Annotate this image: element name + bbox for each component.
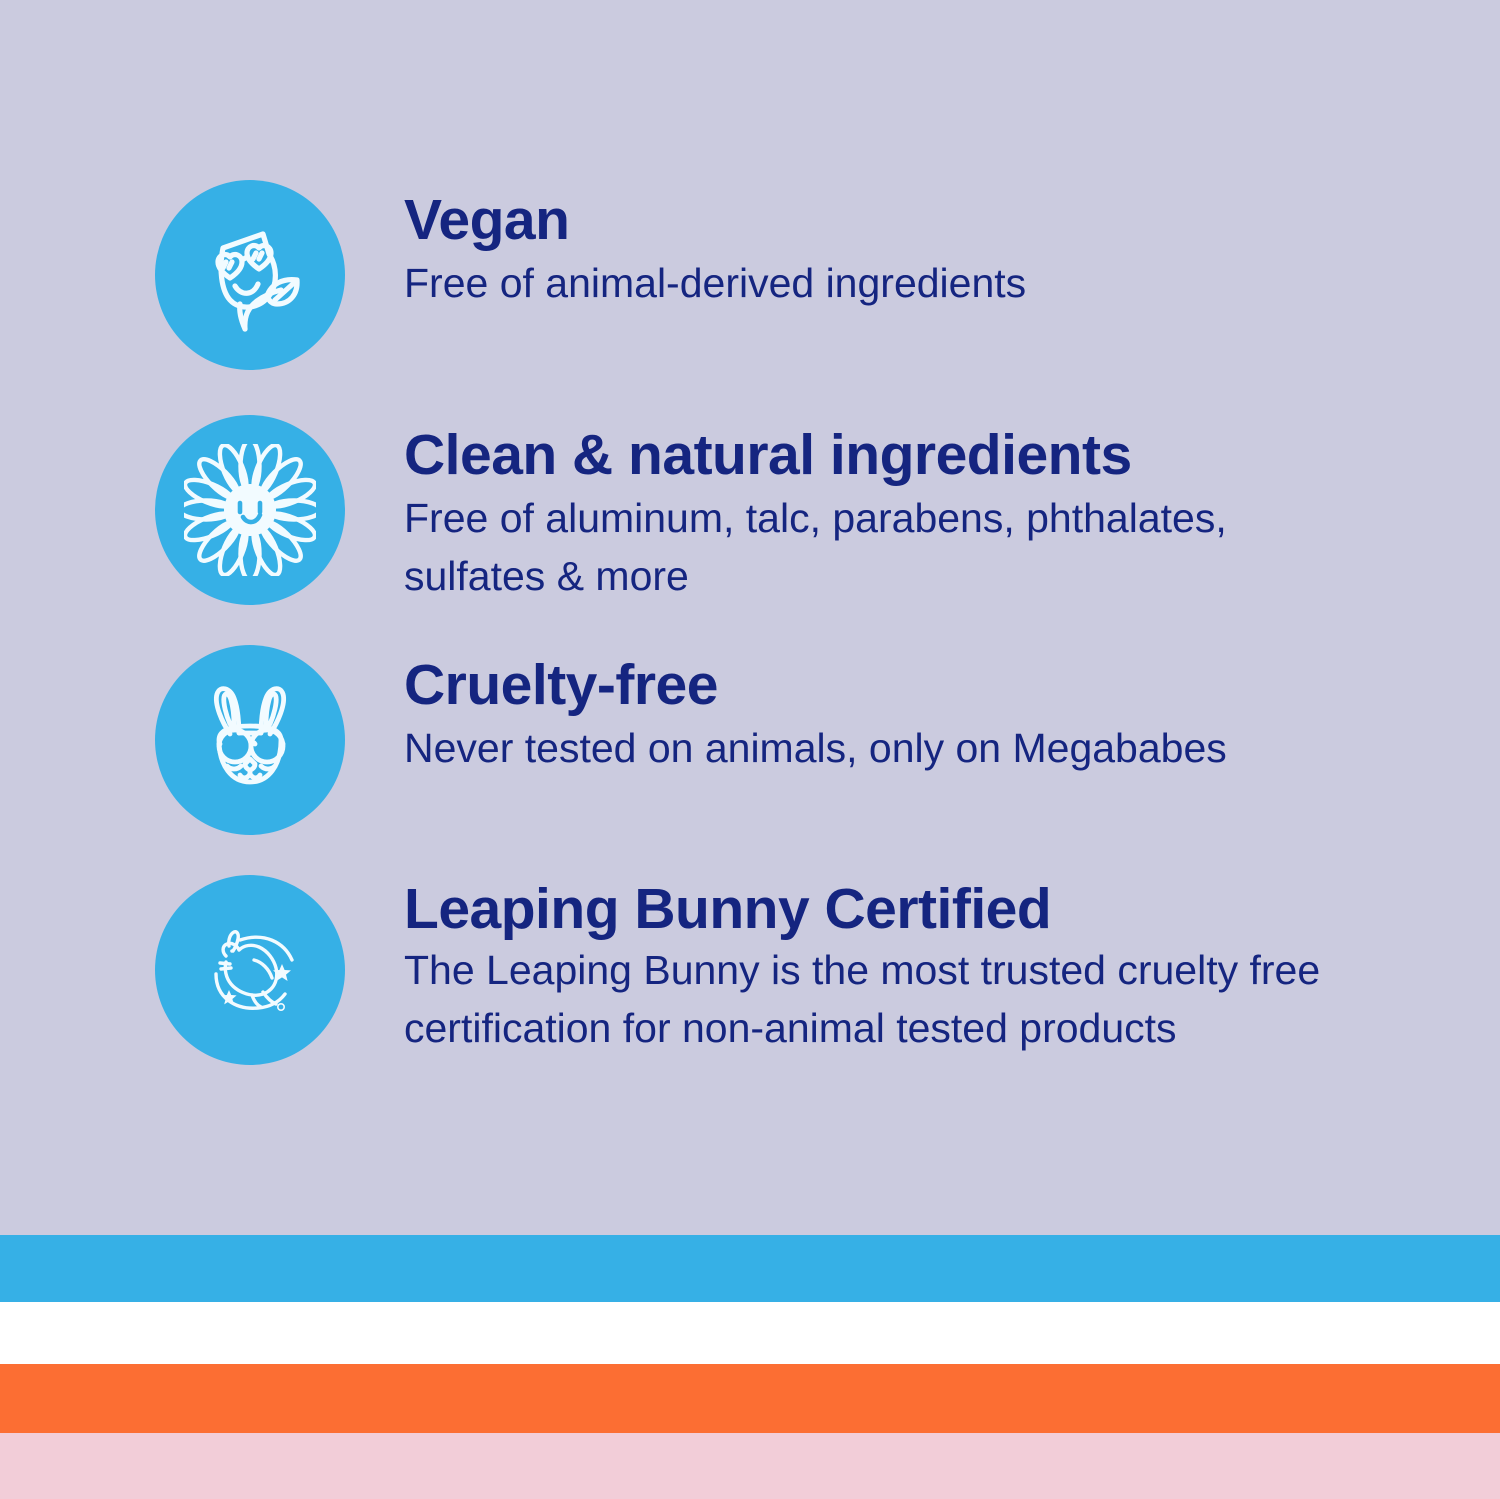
- stripe-pink: [0, 1433, 1500, 1499]
- stripe-blue: [0, 1235, 1500, 1302]
- benefit-description: Never tested on animals, only on Megabab…: [404, 719, 1227, 777]
- benefit-description: The Leaping Bunny is the most trusted cr…: [404, 941, 1394, 1057]
- benefit-item-cruelty-free: Cruelty-free Never tested on animals, on…: [155, 645, 1227, 835]
- benefit-title: Leaping Bunny Certified: [404, 879, 1394, 941]
- benefit-text-cruelty-free: Cruelty-free Never tested on animals, on…: [404, 645, 1227, 777]
- benefit-title: Cruelty-free: [404, 655, 1227, 717]
- benefit-text-clean-natural: Clean & natural ingredients Free of alum…: [404, 415, 1284, 605]
- benefit-title: Vegan: [404, 190, 1026, 252]
- stripe-white: [0, 1302, 1500, 1364]
- benefit-text-leaping-bunny: Leaping Bunny Certified The Leaping Bunn…: [404, 875, 1394, 1057]
- leaping-bunny-logo-icon: [155, 875, 345, 1065]
- vegan-leaf-face-icon: [155, 180, 345, 370]
- bunny-face-glasses-icon: [155, 645, 345, 835]
- benefits-graphic: Vegan Free of animal-derived ingredients: [0, 0, 1500, 1499]
- benefit-item-vegan: Vegan Free of animal-derived ingredients: [155, 180, 1026, 370]
- daisy-flower-face-icon: [155, 415, 345, 605]
- stripe-orange: [0, 1364, 1500, 1433]
- bottom-stripes: [0, 1235, 1500, 1499]
- benefit-title: Clean & natural ingredients: [404, 425, 1284, 487]
- benefit-description: Free of aluminum, talc, parabens, phthal…: [404, 489, 1284, 605]
- benefit-description: Free of animal-derived ingredients: [404, 254, 1026, 312]
- benefit-text-vegan: Vegan Free of animal-derived ingredients: [404, 180, 1026, 312]
- benefits-list: Vegan Free of animal-derived ingredients: [0, 0, 1500, 1235]
- benefit-item-leaping-bunny: Leaping Bunny Certified The Leaping Bunn…: [155, 875, 1394, 1065]
- benefit-item-clean-natural: Clean & natural ingredients Free of alum…: [155, 415, 1284, 605]
